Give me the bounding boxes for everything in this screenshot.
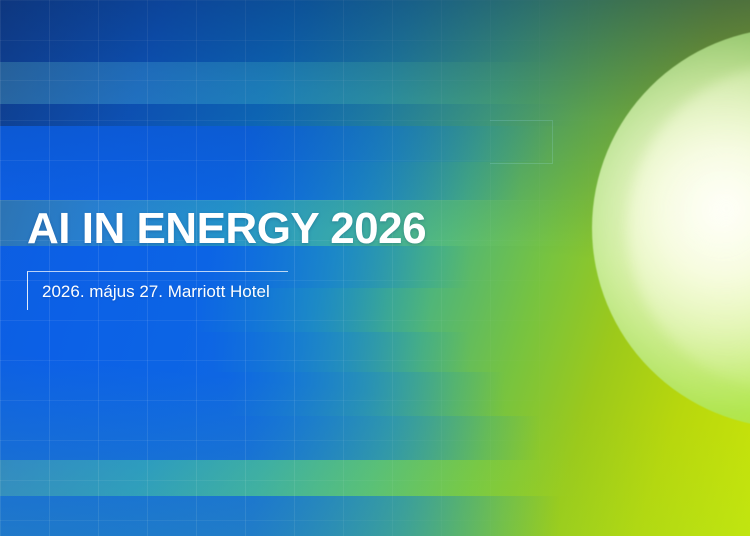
band-9-blue	[0, 332, 470, 372]
band-10-blue	[0, 372, 505, 416]
band-13-blue	[0, 496, 560, 536]
band-3-dark	[0, 104, 575, 126]
band-1-dark	[0, 0, 560, 62]
event-date-venue: 2026. május 27. Marriott Hotel	[42, 282, 270, 302]
banner-text-block: AI IN ENERGY 2026 2026. május 27. Marrio…	[27, 205, 487, 310]
band-11-blue	[0, 416, 540, 460]
band-4-blue	[0, 126, 548, 162]
subtitle-frame: 2026. május 27. Marriott Hotel	[27, 271, 288, 310]
grid-accent-rectangle	[490, 120, 553, 164]
band-2-light	[0, 62, 530, 104]
page-title: AI IN ENERGY 2026	[27, 205, 487, 253]
band-12-light	[0, 460, 585, 496]
band-5-blue	[0, 162, 520, 200]
event-banner: AI IN ENERGY 2026 2026. május 27. Marrio…	[0, 0, 750, 536]
